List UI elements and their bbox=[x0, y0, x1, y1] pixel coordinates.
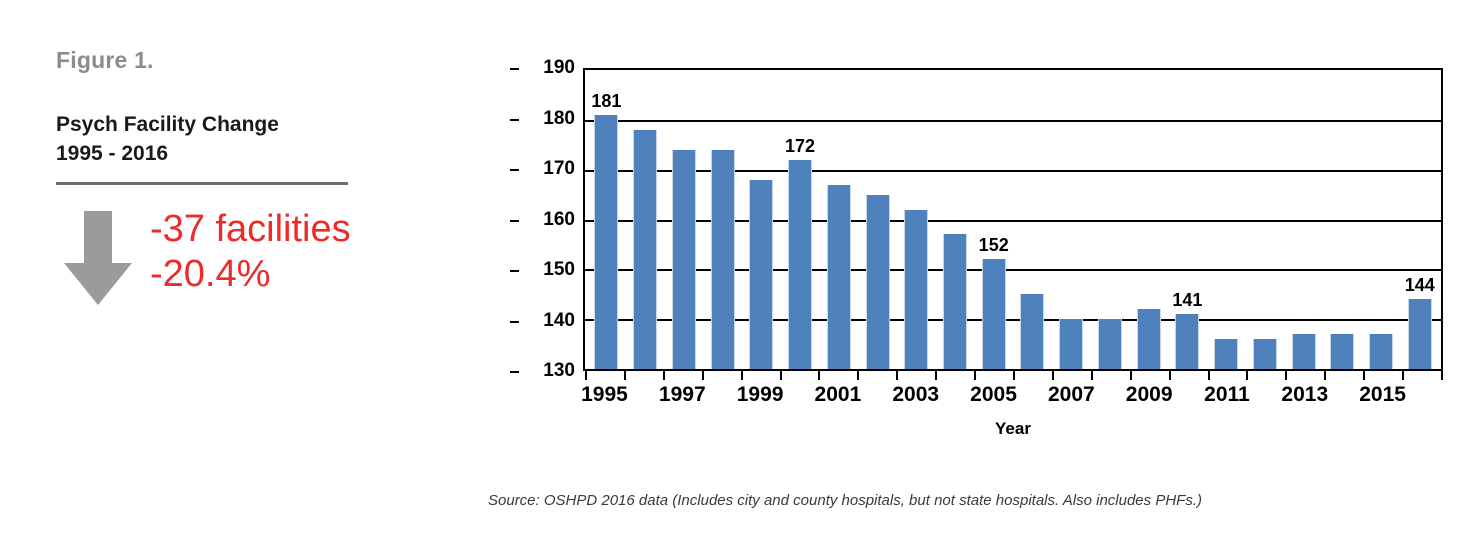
bar-slot bbox=[1245, 70, 1284, 369]
x-label-slot: 1997 bbox=[663, 383, 702, 409]
x-tick-mark bbox=[857, 371, 859, 380]
x-label-slot bbox=[1091, 383, 1130, 409]
x-tick-mark bbox=[1285, 371, 1287, 380]
x-label-slot: 2003 bbox=[896, 383, 935, 409]
bar-chart: Facilities 130140150160170180190 1811721… bbox=[470, 42, 1460, 462]
x-label-slot: 2015 bbox=[1363, 383, 1402, 409]
figure-label: Figure 1. bbox=[56, 48, 406, 73]
caption-title-line2: 1995 - 2016 bbox=[56, 140, 406, 168]
x-tick-mark bbox=[1208, 371, 1210, 380]
x-label-slot bbox=[780, 383, 819, 409]
y-tick-label: 150 bbox=[543, 259, 575, 281]
x-tick-mark bbox=[585, 371, 587, 380]
y-tick-mark bbox=[510, 169, 519, 171]
bar-slot bbox=[742, 70, 781, 369]
x-tick-slot bbox=[1285, 371, 1324, 381]
delta-text: -37 facilities -20.4% bbox=[150, 207, 351, 297]
bar-slot: 144 bbox=[1400, 70, 1439, 369]
x-tick-label: 1997 bbox=[659, 383, 706, 407]
x-tick-mark bbox=[1402, 371, 1404, 380]
x-label-slot: 2009 bbox=[1130, 383, 1169, 409]
bar-slot bbox=[1284, 70, 1323, 369]
x-tick-slot bbox=[896, 371, 935, 381]
x-tick-slot bbox=[818, 371, 857, 381]
x-label-slot bbox=[857, 383, 896, 409]
bar-slot bbox=[897, 70, 936, 369]
x-tick-mark bbox=[741, 371, 743, 380]
bar-slot: 181 bbox=[587, 70, 626, 369]
x-tick-label: 2011 bbox=[1204, 383, 1250, 407]
x-tick-label: 2013 bbox=[1281, 383, 1328, 407]
bar-slot bbox=[819, 70, 858, 369]
bar-slot: 152 bbox=[974, 70, 1013, 369]
bar[interactable] bbox=[1214, 339, 1238, 369]
x-tick-mark bbox=[818, 371, 820, 380]
caption-divider bbox=[56, 182, 348, 185]
bar[interactable] bbox=[633, 130, 657, 369]
x-label-slot bbox=[1013, 383, 1052, 409]
x-tick-slot bbox=[1169, 371, 1208, 381]
bar[interactable] bbox=[904, 210, 928, 369]
bar-slot: 141 bbox=[1168, 70, 1207, 369]
x-axis-title: Year bbox=[583, 419, 1443, 439]
x-tick-mark bbox=[935, 371, 937, 380]
bar[interactable]: 152 bbox=[982, 259, 1006, 369]
x-tick-slot bbox=[1130, 371, 1169, 381]
x-tick-slot bbox=[702, 371, 741, 381]
x-tick-slot bbox=[585, 371, 624, 381]
x-tick-slot bbox=[1246, 371, 1285, 381]
bar[interactable] bbox=[1059, 319, 1083, 369]
caption-title: Psych Facility Change 1995 - 2016 bbox=[56, 111, 406, 168]
bar[interactable] bbox=[672, 150, 696, 369]
x-tick-slot bbox=[624, 371, 663, 381]
bar[interactable] bbox=[866, 195, 890, 369]
x-tick-slot bbox=[1402, 371, 1441, 381]
y-tick-label: 160 bbox=[543, 209, 575, 231]
bar[interactable] bbox=[1020, 294, 1044, 369]
bar[interactable]: 144 bbox=[1408, 299, 1432, 369]
y-tick-mark bbox=[510, 220, 519, 222]
bar-slot bbox=[626, 70, 665, 369]
bar[interactable]: 141 bbox=[1175, 314, 1199, 369]
down-arrow-icon bbox=[62, 211, 134, 307]
bar[interactable] bbox=[1253, 339, 1277, 369]
bar[interactable] bbox=[827, 185, 851, 369]
x-axis-tick-labels: 1995199719992001200320052007200920112013… bbox=[583, 383, 1443, 409]
bar[interactable] bbox=[1330, 334, 1354, 369]
x-tick-label: 2015 bbox=[1359, 383, 1406, 407]
x-tick-mark bbox=[1363, 371, 1365, 380]
y-tick-mark bbox=[510, 68, 519, 70]
bar[interactable] bbox=[943, 234, 967, 369]
caption-title-line1: Psych Facility Change bbox=[56, 111, 406, 139]
x-tick-slot bbox=[741, 371, 780, 381]
delta-facilities: -37 facilities bbox=[150, 207, 351, 252]
x-tick-slot bbox=[1013, 371, 1052, 381]
x-tick-mark bbox=[974, 371, 976, 380]
bar-slot bbox=[1362, 70, 1401, 369]
x-tick-label: 2009 bbox=[1126, 383, 1173, 407]
bar-slot bbox=[703, 70, 742, 369]
x-label-slot bbox=[702, 383, 741, 409]
bar[interactable] bbox=[1369, 334, 1393, 369]
delta-block: -37 facilities -20.4% bbox=[56, 207, 406, 307]
x-tick-slot bbox=[1052, 371, 1091, 381]
caption-panel: Figure 1. Psych Facility Change 1995 - 2… bbox=[56, 48, 406, 307]
x-label-slot bbox=[1169, 383, 1208, 409]
y-tick-label: 190 bbox=[543, 57, 575, 79]
x-label-slot bbox=[1324, 383, 1363, 409]
x-tick-mark bbox=[702, 371, 704, 380]
x-tick-mark bbox=[1130, 371, 1132, 380]
x-tick-slot bbox=[780, 371, 819, 381]
y-tick-label: 180 bbox=[543, 108, 575, 130]
x-tick-label: 1995 bbox=[581, 383, 628, 407]
y-tick-mark bbox=[510, 371, 519, 373]
bar-slot: 172 bbox=[781, 70, 820, 369]
bar[interactable] bbox=[1098, 319, 1122, 369]
x-tick-slot bbox=[1208, 371, 1247, 381]
bar-value-label: 141 bbox=[1172, 290, 1202, 311]
x-axis-tick-marks bbox=[583, 371, 1443, 381]
x-tick-slot bbox=[1324, 371, 1363, 381]
bar[interactable] bbox=[711, 150, 735, 369]
x-tick-mark bbox=[1091, 371, 1093, 380]
y-tick-label: 130 bbox=[543, 360, 575, 382]
x-tick-label: 2007 bbox=[1048, 383, 1095, 407]
x-label-slot: 1999 bbox=[741, 383, 780, 409]
bar-value-label: 172 bbox=[785, 136, 815, 157]
x-tick-mark bbox=[1441, 371, 1443, 380]
bar-slot bbox=[1052, 70, 1091, 369]
y-tick-mark bbox=[510, 119, 519, 121]
x-tick-slot bbox=[857, 371, 896, 381]
x-label-slot: 2013 bbox=[1285, 383, 1324, 409]
x-tick-mark bbox=[1246, 371, 1248, 380]
x-tick-mark bbox=[663, 371, 665, 380]
y-axis-tick-labels: 130140150160170180190 bbox=[519, 68, 575, 371]
y-tick-label: 140 bbox=[543, 310, 575, 332]
x-tick-label: 2005 bbox=[970, 383, 1017, 407]
x-tick-slot bbox=[1363, 371, 1402, 381]
bar[interactable] bbox=[1292, 334, 1316, 369]
bar[interactable]: 172 bbox=[788, 160, 812, 369]
bar-slot bbox=[858, 70, 897, 369]
x-tick-label: 1999 bbox=[737, 383, 784, 407]
x-label-slot: 2001 bbox=[818, 383, 857, 409]
bar-value-label: 181 bbox=[591, 91, 621, 112]
x-label-slot bbox=[1246, 383, 1285, 409]
x-tick-label: 2001 bbox=[815, 383, 862, 407]
bar-slot bbox=[1091, 70, 1130, 369]
x-label-slot bbox=[935, 383, 974, 409]
x-tick-mark bbox=[624, 371, 626, 380]
bar[interactable] bbox=[1137, 309, 1161, 369]
bar-value-label: 152 bbox=[979, 235, 1009, 256]
x-tick-slot bbox=[663, 371, 702, 381]
x-label-slot bbox=[624, 383, 663, 409]
x-tick-slot bbox=[935, 371, 974, 381]
bar[interactable] bbox=[749, 180, 773, 369]
y-tick-mark bbox=[510, 321, 519, 323]
bar-slot bbox=[1013, 70, 1052, 369]
x-tick-mark bbox=[1052, 371, 1054, 380]
bar-slot bbox=[1207, 70, 1246, 369]
x-label-slot: 2005 bbox=[974, 383, 1013, 409]
bar-slot bbox=[1323, 70, 1362, 369]
bar[interactable]: 181 bbox=[594, 115, 618, 369]
x-tick-mark bbox=[1169, 371, 1171, 380]
x-tick-mark bbox=[780, 371, 782, 380]
plot-wrap: 130140150160170180190 181172152141144 19… bbox=[583, 68, 1443, 371]
bar-slot bbox=[936, 70, 975, 369]
x-label-slot: 1995 bbox=[585, 383, 624, 409]
plot-area: 181172152141144 bbox=[583, 68, 1443, 371]
x-tick-mark bbox=[1013, 371, 1015, 380]
bar-slot bbox=[664, 70, 703, 369]
y-tick-label: 170 bbox=[543, 158, 575, 180]
bar-slot bbox=[1129, 70, 1168, 369]
x-tick-slot bbox=[974, 371, 1013, 381]
x-label-slot: 2007 bbox=[1052, 383, 1091, 409]
x-label-slot: 2011 bbox=[1208, 383, 1247, 409]
x-tick-slot bbox=[1091, 371, 1130, 381]
x-tick-mark bbox=[896, 371, 898, 380]
x-label-slot bbox=[1402, 383, 1441, 409]
bars-layer: 181172152141144 bbox=[585, 70, 1441, 369]
y-tick-mark bbox=[510, 270, 519, 272]
x-tick-mark bbox=[1324, 371, 1326, 380]
bar-value-label: 144 bbox=[1405, 275, 1435, 296]
source-note: Source: OSHPD 2016 data (Includes city a… bbox=[488, 492, 1202, 509]
delta-percent: -20.4% bbox=[150, 252, 351, 297]
x-tick-label: 2003 bbox=[892, 383, 939, 407]
